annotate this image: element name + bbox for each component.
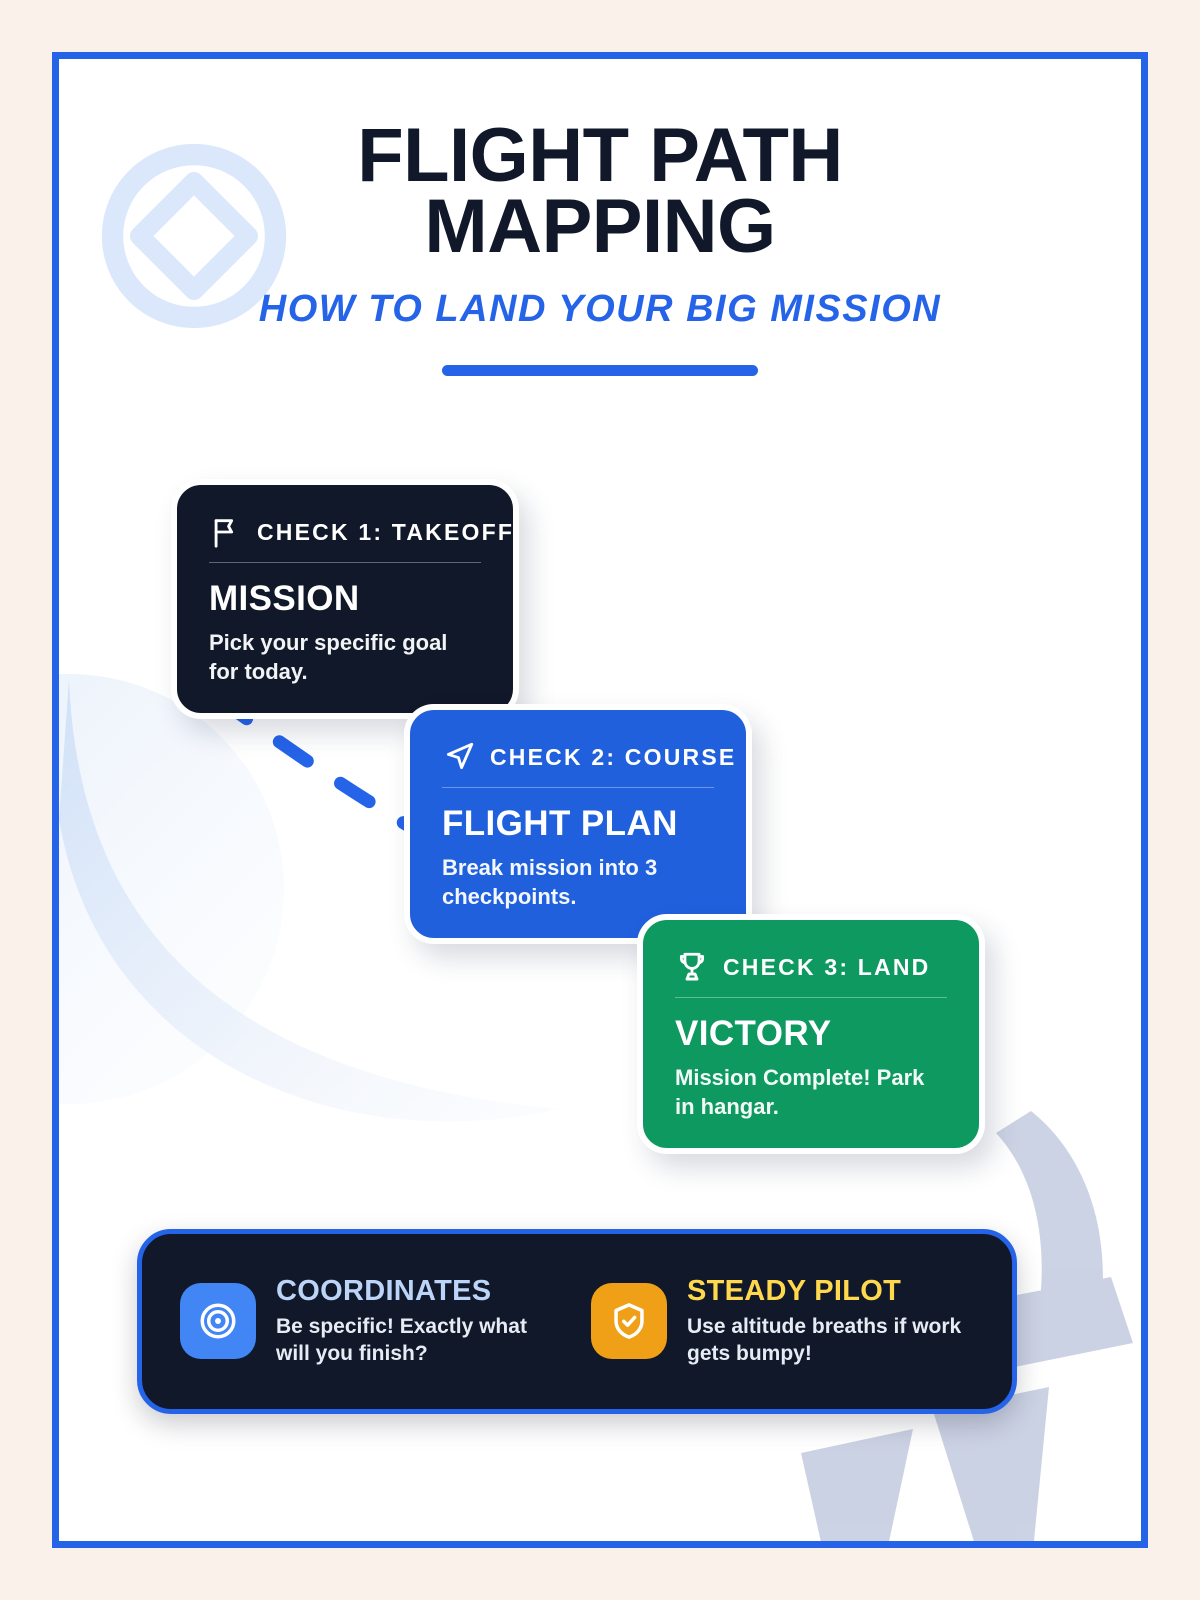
step-title: FLIGHT PLAN	[442, 804, 714, 844]
target-icon	[197, 1300, 239, 1342]
trophy-icon	[675, 950, 709, 984]
tip-text: STEADY PILOT Use altitude breaths if wor…	[687, 1276, 974, 1367]
step-title: VICTORY	[675, 1014, 947, 1054]
poster-frame: FLIGHT PATH MAPPING HOW TO LAND YOUR BIG…	[52, 52, 1148, 1548]
step-card-header: CHECK 3: LAND	[675, 950, 947, 984]
shield-check-icon	[608, 1300, 650, 1342]
accent-divider	[442, 365, 758, 376]
tip-badge	[591, 1283, 667, 1359]
page-subtitle: HOW TO LAND YOUR BIG MISSION	[59, 262, 1141, 331]
navigation-arrow-icon	[442, 740, 476, 774]
header: FLIGHT PATH MAPPING HOW TO LAND YOUR BIG…	[59, 59, 1141, 376]
divider	[675, 997, 947, 998]
step-description: Mission Complete! Park in hangar.	[675, 1063, 947, 1122]
step-description: Pick your specific goal for today.	[209, 628, 481, 687]
tip-coordinates[interactable]: COORDINATES Be specific! Exactly what wi…	[166, 1276, 577, 1367]
divider	[442, 787, 714, 788]
flag-icon	[209, 515, 243, 549]
page-title: FLIGHT PATH MAPPING	[59, 59, 1141, 262]
step-card-course[interactable]: CHECK 2: COURSE FLIGHT PLAN Break missio…	[404, 704, 752, 944]
tips-panel: COORDINATES Be specific! Exactly what wi…	[137, 1229, 1017, 1414]
step-card-header: CHECK 2: COURSE	[442, 740, 714, 774]
tip-description: Be specific! Exactly what will you finis…	[276, 1313, 563, 1368]
tip-title: COORDINATES	[276, 1276, 563, 1308]
step-title: MISSION	[209, 579, 481, 619]
step-kicker: CHECK 2: COURSE	[490, 744, 736, 771]
step-description: Break mission into 3 checkpoints.	[442, 853, 714, 912]
step-kicker: CHECK 1: TAKEOFF	[257, 519, 514, 546]
poster-canvas: FLIGHT PATH MAPPING HOW TO LAND YOUR BIG…	[59, 59, 1141, 1541]
tip-description: Use altitude breaths if work gets bumpy!	[687, 1313, 974, 1368]
tip-badge	[180, 1283, 256, 1359]
tip-steady-pilot[interactable]: STEADY PILOT Use altitude breaths if wor…	[577, 1276, 988, 1367]
tip-title: STEADY PILOT	[687, 1276, 974, 1308]
divider	[209, 562, 481, 563]
step-kicker: CHECK 3: LAND	[723, 954, 931, 981]
tip-text: COORDINATES Be specific! Exactly what wi…	[276, 1276, 563, 1367]
step-card-takeoff[interactable]: CHECK 1: TAKEOFF MISSION Pick your speci…	[171, 479, 519, 719]
step-card-land[interactable]: CHECK 3: LAND VICTORY Mission Complete! …	[637, 914, 985, 1154]
step-card-header: CHECK 1: TAKEOFF	[209, 515, 481, 549]
